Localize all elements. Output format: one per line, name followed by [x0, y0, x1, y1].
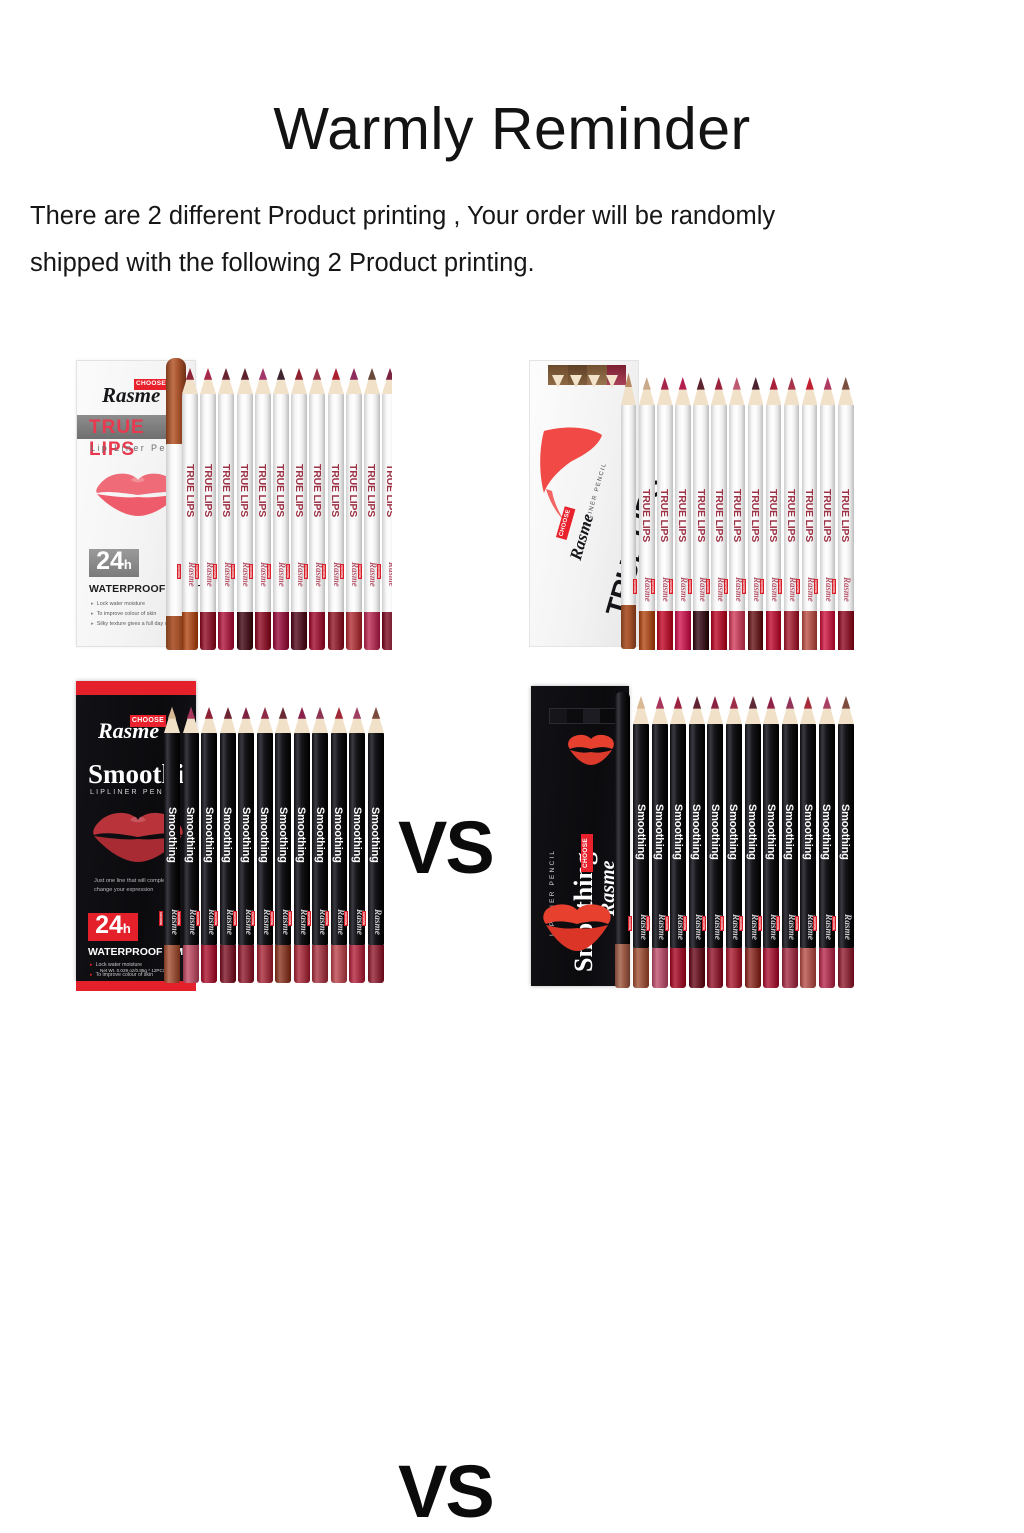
- pencil-shade-end: [707, 948, 723, 988]
- pencil-shade-end: [182, 612, 198, 650]
- pencil-tip-icon: [291, 368, 307, 394]
- pencil-front: [621, 373, 636, 649]
- pencil-label: TRUE LIPS: [658, 489, 670, 542]
- pencil-shade-end: [748, 611, 764, 650]
- pencil-choose-badge: CHOOSE: [706, 579, 710, 594]
- tray-slot: [583, 709, 600, 723]
- comparison-row-true-lips: CHOOSE Rasme TRUE LIPS Lip Liner Pencil …: [0, 345, 1024, 665]
- pencil-tip-icon: [633, 696, 649, 724]
- pencil-shade-end: [312, 945, 328, 983]
- pencil: TRUE LIPSRasmeCHOOSE: [218, 368, 234, 650]
- duration-badge: 24h: [89, 549, 139, 577]
- product-image-smoothing-red-black: CHOOSE Rasme Smoothing LIPLINER PENCIL J…: [72, 675, 392, 995]
- pencil-label: TRUE LIPS: [202, 464, 214, 517]
- pencil-tip-icon: [819, 696, 835, 724]
- pencil-tip-icon: [294, 707, 310, 733]
- pencil-label: Smoothing: [332, 807, 344, 863]
- vs-label: VS: [398, 1455, 493, 1529]
- pencil-tip-icon: [328, 368, 344, 394]
- pencil-choose-badge: CHOOSE: [832, 579, 836, 594]
- pencil-choose-badge: CHOOSE: [358, 564, 362, 579]
- pencil-shade-end: [689, 948, 705, 988]
- pencil-shade-end: [800, 948, 816, 988]
- pencil: SmoothingRasmeCHOOSE: [707, 696, 723, 988]
- pencil-choose-badge: CHOOSE: [795, 916, 799, 931]
- pencil: SmoothingRasmeCHOOSE: [633, 696, 649, 988]
- pencil-tip-icon: [800, 696, 816, 724]
- kiss-mark-icon: [541, 900, 613, 952]
- pencil-tip-icon: [726, 696, 742, 724]
- pencil-shade-end: [729, 611, 745, 650]
- duration-number: 24: [96, 549, 124, 574]
- pencil-shade-end: [802, 611, 818, 650]
- pencil-label: Smoothing: [351, 807, 363, 863]
- pencil-label: TRUE LIPS: [293, 464, 305, 517]
- pencil-shade-end: [349, 945, 365, 983]
- pencil-choose-badge: CHOOSE: [177, 564, 181, 579]
- pencil-tip-icon: [621, 373, 636, 407]
- pencil-choose-badge: CHOOSE: [665, 916, 669, 931]
- pencil-brand-script: Rasme: [372, 909, 382, 935]
- pencil-label: Smoothing: [672, 804, 684, 860]
- pencil-choose-badge: CHOOSE: [325, 911, 329, 926]
- pencil-brand-script: Rasme: [842, 577, 852, 602]
- pencil-label: Smoothing: [221, 807, 233, 863]
- pencil-choose-badge: CHOOSE: [159, 911, 163, 926]
- pencil-choose-badge: CHOOSE: [213, 564, 217, 579]
- pencil: SmoothingRasmeCHOOSE: [800, 696, 816, 988]
- pencil-shade-end: [257, 945, 273, 983]
- pencil-choose-badge: CHOOSE: [702, 916, 706, 931]
- pencil-tip-icon: [275, 707, 291, 733]
- pencil-barrel: [615, 692, 630, 944]
- pencil-tip-icon: [164, 707, 180, 733]
- pencil-shade-end: [346, 612, 362, 650]
- pencil-choose-badge: CHOOSE: [758, 916, 762, 931]
- pencil-shade-end: [693, 611, 709, 650]
- pencil-shade-end: [220, 945, 236, 983]
- pencil-tip-icon: [201, 707, 217, 733]
- pencil-tip-icon: [657, 377, 673, 405]
- pencil-shade-end: [275, 945, 291, 983]
- pencil-choose-badge: CHOOSE: [669, 579, 673, 594]
- duration-number: 24: [95, 913, 123, 938]
- pencil-shade-end: [183, 945, 199, 983]
- pencil-label: TRUE LIPS: [347, 464, 359, 517]
- pencil-label: TRUE LIPS: [731, 489, 743, 542]
- pencil-choose-badge: CHOOSE: [195, 564, 199, 579]
- duration-badge: 24h: [88, 913, 138, 941]
- pencil-shade-end: [675, 611, 691, 650]
- pencil-choose-badge: CHOOSE: [651, 579, 655, 594]
- comparison-row-smoothing: CHOOSE Rasme Smoothing LIPLINER PENCIL J…: [0, 675, 1024, 995]
- pencil-choose-badge: CHOOSE: [628, 916, 632, 931]
- pencil-tip-icon: [364, 368, 380, 394]
- pencil: TRUE LIPSRasmeCHOOSE: [273, 368, 289, 650]
- pencil-shade-end: [819, 948, 835, 988]
- pencil-choose-badge: CHOOSE: [742, 579, 746, 594]
- pencil: SmoothingRasmeCHOOSE: [294, 707, 310, 983]
- pencil-tip-icon: [763, 696, 779, 724]
- pencil-label: Smoothing: [277, 807, 289, 863]
- pencil-tip-icon: [368, 707, 384, 733]
- pencil: SmoothingRasmeCHOOSE: [331, 707, 347, 983]
- pencil-tip-icon: [182, 368, 198, 394]
- pencil-choose-badge: CHOOSE: [304, 564, 308, 579]
- pencil-tip-icon: [255, 368, 271, 394]
- pencil-shade-end: [726, 948, 742, 988]
- pencil-choose-badge: CHOOSE: [251, 911, 255, 926]
- pencil-choose-badge: CHOOSE: [688, 579, 692, 594]
- pencil: SmoothingRasmeCHOOSE: [819, 696, 835, 988]
- pencil: TRUE LIPSRasmeCHOOSE: [364, 368, 380, 650]
- pencil-tip-icon: [745, 696, 761, 724]
- pencil: SmoothingRasmeCHOOSE: [782, 696, 798, 988]
- pencil-shade-end: [782, 948, 798, 988]
- red-top-band: [76, 681, 196, 695]
- pencil-tip-icon: [670, 696, 686, 724]
- tray-slot: [550, 709, 567, 723]
- pencil-tip-icon: [711, 377, 727, 405]
- pencil-choose-badge: CHOOSE: [214, 911, 218, 926]
- choose-badge: CHOOSE: [581, 834, 593, 872]
- pencil: SmoothingRasmeCHOOSE: [652, 696, 668, 988]
- pencil-label: Smoothing: [240, 807, 252, 863]
- pencil-tip-icon: [689, 696, 705, 724]
- pencil-label: Smoothing: [314, 807, 326, 863]
- pencil: TRUE LIPSRasmeCHOOSE: [200, 368, 216, 650]
- pencil-choose-badge: CHOOSE: [646, 916, 650, 931]
- pencil: SmoothingRasmeCHOOSE: [257, 707, 273, 983]
- pencil: TRUE LIPSRasmeCHOOSE: [182, 368, 198, 650]
- kiss-mark-icon: [567, 732, 615, 766]
- pencil-label: Smoothing: [839, 804, 851, 860]
- intro-paragraph: There are 2 different Product printing ,…: [0, 159, 1024, 287]
- pencil-label: TRUE LIPS: [749, 489, 761, 542]
- pencil-label: TRUE LIPS: [767, 489, 779, 542]
- pencil-shade-end: [670, 948, 686, 988]
- pencil-choose-badge: CHOOSE: [340, 564, 344, 579]
- pencil-tip-icon: [200, 368, 216, 394]
- pencil-shade-end: [273, 612, 289, 650]
- pencil-label: TRUE LIPS: [839, 489, 851, 542]
- pencil-tip-icon: [312, 707, 328, 733]
- pencil-shade-end: [633, 948, 649, 988]
- pencil-tip-icon: [331, 707, 347, 733]
- pencil-choose-badge: CHOOSE: [720, 916, 724, 931]
- pencil-choose-badge: CHOOSE: [362, 911, 366, 926]
- pencil-brand-script: Rasme: [842, 914, 852, 940]
- pencil-label: Smoothing: [802, 804, 814, 860]
- pencil-tip-icon: [693, 377, 709, 405]
- pencil-shade-end: [368, 945, 384, 983]
- pencil-shade-end: [838, 948, 854, 988]
- pencil-choose-badge: CHOOSE: [233, 911, 237, 926]
- pencil: TRUE LIPSRasmeCHOOSE: [346, 368, 362, 650]
- brand-name: Rasme: [98, 718, 159, 744]
- pencil-shade-end: [331, 945, 347, 983]
- pencil-choose-badge: CHOOSE: [231, 564, 235, 579]
- pencil-barrel: [621, 405, 636, 605]
- pencil-choose-badge: CHOOSE: [760, 579, 764, 594]
- pencil-brand-script: Rasme: [387, 562, 392, 587]
- pencil: SmoothingRasmeCHOOSE: [238, 707, 254, 983]
- pencil-label: Smoothing: [166, 807, 178, 863]
- pencil: TRUE LIPSRasmeCHOOSE: [802, 377, 818, 650]
- pencil-tip-icon: [237, 368, 253, 394]
- pencil-choose-badge: CHOOSE: [739, 916, 743, 931]
- pencil: SmoothingRasmeCHOOSE: [838, 696, 854, 988]
- pencil: SmoothingRasmeCHOOSE: [368, 707, 384, 983]
- pencil: TRUE LIPSRasmeCHOOSE: [820, 377, 836, 650]
- pencil-tip-icon: [218, 368, 234, 394]
- pencil-label: TRUE LIPS: [256, 464, 268, 517]
- pencil-label: Smoothing: [820, 804, 832, 860]
- duration-unit: h: [124, 557, 132, 572]
- pencil-shade-end: [621, 605, 636, 649]
- pencil-label: TRUE LIPS: [238, 464, 250, 517]
- pencil-choose-badge: CHOOSE: [776, 916, 780, 931]
- pencil: TRUE LIPSRasmeCHOOSE: [693, 377, 709, 650]
- pencil: SmoothingRasmeCHOOSE: [670, 696, 686, 988]
- pencil: TRUE LIPSRasmeCHOOSE: [309, 368, 325, 650]
- pencil-label: TRUE LIPS: [785, 489, 797, 542]
- pencil-tip-icon: [838, 377, 854, 405]
- net-weight: Net Wt. 0.029 oz/0.85g * 12PCS: [100, 968, 166, 973]
- pencil-label: Smoothing: [690, 804, 702, 860]
- pencil: SmoothingRasmeCHOOSE: [275, 707, 291, 983]
- pencil-shade-end: [838, 611, 854, 650]
- pencil-shade-end: [328, 612, 344, 650]
- pencil-choose-badge: CHOOSE: [286, 564, 290, 579]
- pencil-label: Smoothing: [709, 804, 721, 860]
- pencil-choose-badge: CHOOSE: [377, 564, 381, 579]
- pencil: TRUE LIPSRasmeCHOOSE: [748, 377, 764, 650]
- pencil-choose-badge: CHOOSE: [683, 916, 687, 931]
- pencil-choose-badge: CHOOSE: [267, 564, 271, 579]
- pencil-label: TRUE LIPS: [695, 489, 707, 542]
- pencil-label: Smoothing: [746, 804, 758, 860]
- pencil-shade-end: [255, 612, 271, 650]
- pencil-row-smoothing-black: SmoothingRasmeCHOOSESmoothingRasmeCHOOSE…: [633, 696, 856, 988]
- pencil-label: TRUE LIPS: [821, 489, 833, 542]
- pencil-tip-icon: [257, 707, 273, 733]
- pencil: SmoothingRasmeCHOOSE: [312, 707, 328, 983]
- pencil-shade-end: [238, 945, 254, 983]
- pencil-shade-end: [657, 611, 673, 650]
- pencil-shade-end: [763, 948, 779, 988]
- pencil-row-smoothing-red-black: SmoothingRasmeCHOOSESmoothingRasmeCHOOSE…: [164, 707, 386, 983]
- pencil-tip-icon: [309, 368, 325, 394]
- product-image-true-lips-vertical: TRUE LIPS LIP LINER PENCIL Rasme CHOOSE: [525, 355, 925, 650]
- pencil: SmoothingRasmeCHOOSE: [745, 696, 761, 988]
- pencil: TRUE LIPSRasmeCHOOSE: [639, 377, 655, 650]
- pencil: TRUE LIPSRasmeCHOOSE: [838, 377, 854, 650]
- pencil-shade-end: [766, 611, 782, 650]
- pencil: TRUE LIPSRasmeCHOOSE: [729, 377, 745, 650]
- pencil-shade-end: [711, 611, 727, 650]
- pencil-tip-icon: [766, 377, 782, 405]
- pencil-shade-end: [164, 945, 180, 983]
- pencil: TRUE LIPSRasmeCHOOSE: [291, 368, 307, 650]
- pencil-choose-badge: CHOOSE: [344, 911, 348, 926]
- comparison-grid: CHOOSE Rasme TRUE LIPS Lip Liner Pencil …: [0, 345, 1024, 1005]
- pencil: TRUE LIPSRasmeCHOOSE: [657, 377, 673, 650]
- pencil-tip-icon: [820, 377, 836, 405]
- pencil-label: Smoothing: [653, 804, 665, 860]
- pencil-label: Smoothing: [295, 807, 307, 863]
- pencil-shade-end: [382, 612, 392, 650]
- tray-slot: [567, 709, 584, 723]
- pencil-label: Smoothing: [258, 807, 270, 863]
- pencil: TRUE LIPSRasmeCHOOSE: [237, 368, 253, 650]
- pencil-tip-icon: [238, 707, 254, 733]
- pencil: SmoothingRasmeCHOOSE: [726, 696, 742, 988]
- pencil-row-true-lips-white: TRUE LIPSRasmeCHOOSETRUE LIPSRasmeCHOOSE…: [182, 368, 392, 650]
- pencil-row-true-lips-vertical: TRUE LIPSRasmeCHOOSETRUE LIPSRasmeCHOOSE…: [639, 377, 856, 650]
- pencil-tip-icon: [273, 368, 289, 394]
- pencil-label: Smoothing: [203, 807, 215, 863]
- pencil-choose-badge: CHOOSE: [307, 911, 311, 926]
- pencil-shade-end: [200, 612, 216, 650]
- pencil-choose-badge: CHOOSE: [832, 916, 836, 931]
- pencil-shade-end: [291, 612, 307, 650]
- pencil: SmoothingRasmeCHOOSE: [220, 707, 236, 983]
- pencil-tip-icon: [349, 707, 365, 733]
- pencil-shade-end: [639, 611, 655, 650]
- pencil-choose-badge: CHOOSE: [177, 911, 181, 926]
- pencil-front: [615, 692, 630, 988]
- pencil-choose-badge: CHOOSE: [724, 579, 728, 594]
- pencil-choose-badge: CHOOSE: [288, 911, 292, 926]
- pencil-tip-icon: [652, 696, 668, 724]
- brand-name: Rasme: [102, 383, 160, 408]
- pencil-label: Smoothing: [369, 807, 381, 863]
- pencil: TRUE LIPSRasmeCHOOSE: [784, 377, 800, 650]
- pencil-label: Smoothing: [727, 804, 739, 860]
- pencil-label: TRUE LIPS: [184, 464, 196, 517]
- pencil: SmoothingRasmeCHOOSE: [763, 696, 779, 988]
- pencil-tip-icon: [346, 368, 362, 394]
- pencil-label: TRUE LIPS: [311, 464, 323, 517]
- product-image-smoothing-black: Smoothing LIPLINER PENCIL Rasme CHOOSE: [525, 678, 925, 995]
- pencil-label: TRUE LIPS: [220, 464, 232, 517]
- pencil-label: TRUE LIPS: [803, 489, 815, 542]
- pencil-shade-end: [820, 611, 836, 650]
- pencil-label: TRUE LIPS: [365, 464, 377, 517]
- pencil-tip-icon: [220, 707, 236, 733]
- pencil-choose-badge: CHOOSE: [814, 579, 818, 594]
- pencil-shade-end: [364, 612, 380, 650]
- pencil: TRUE LIPSRasmeCHOOSE: [255, 368, 271, 650]
- pencil-shade-end: [309, 612, 325, 650]
- pencil: SmoothingRasmeCHOOSE: [689, 696, 705, 988]
- pencil-label: Smoothing: [184, 807, 196, 863]
- pencil-choose-badge: CHOOSE: [196, 911, 200, 926]
- pencil-tip-icon: [183, 707, 199, 733]
- pencil: TRUE LIPSRasmeCHOOSE: [328, 368, 344, 650]
- pencil: TRUE LIPSRasmeCHOOSE: [766, 377, 782, 650]
- pencil-choose-badge: CHOOSE: [813, 916, 817, 931]
- pencil-shade-end: [652, 948, 668, 988]
- intro-line-1: There are 2 different Product printing ,…: [30, 193, 998, 240]
- pencil-shade-end: [237, 612, 253, 650]
- pencil-label: TRUE LIPS: [329, 464, 341, 517]
- pencil-label: TRUE LIPS: [676, 489, 688, 542]
- pencil-tip-icon: [784, 377, 800, 405]
- pencil: SmoothingRasmeCHOOSE: [201, 707, 217, 983]
- pencil-label: TRUE LIPS: [640, 489, 652, 542]
- tray-teeth-icon: [548, 375, 626, 389]
- pencil-shade-end: [745, 948, 761, 988]
- pencil-choose-badge: CHOOSE: [633, 579, 637, 594]
- pencil-choose-badge: CHOOSE: [249, 564, 253, 579]
- pencil-label: TRUE LIPS: [274, 464, 286, 517]
- page-title: Warmly Reminder: [0, 0, 1024, 159]
- pencil-label: Smoothing: [783, 804, 795, 860]
- duration-unit: h: [123, 921, 131, 936]
- pencil: TRUE LIPSRasmeCHOOSE: [711, 377, 727, 650]
- pencil-shade-end: [218, 612, 234, 650]
- pencil-tip-icon: [707, 696, 723, 724]
- pencil-tip-icon: [729, 377, 745, 405]
- pencil-choose-badge: CHOOSE: [322, 564, 326, 579]
- pencil-tip-icon: [838, 696, 854, 724]
- pencil-tip-icon: [675, 377, 691, 405]
- pencil-tip-icon: [639, 377, 655, 405]
- pencil-tray: [549, 708, 617, 724]
- product-image-true-lips-white: CHOOSE Rasme TRUE LIPS Lip Liner Pencil …: [72, 350, 392, 650]
- pencil-label: Smoothing: [635, 804, 647, 860]
- intro-line-2: shipped with the following 2 Product pri…: [30, 240, 998, 287]
- pencil: SmoothingRasmeCHOOSE: [349, 707, 365, 983]
- pencil: TRUE LIPSRasmeCHOOSE: [675, 377, 691, 650]
- pencil-label: TRUE LIPS: [713, 489, 725, 542]
- pencil-choose-badge: CHOOSE: [778, 579, 782, 594]
- pencil-tip-icon: [382, 368, 392, 394]
- pencil: TRUE LIPSRasmeCHOOSE: [382, 368, 392, 650]
- pencil-label: TRUE LIPS: [384, 464, 392, 517]
- pencil-shade-end: [784, 611, 800, 650]
- pencil-choose-badge: CHOOSE: [796, 579, 800, 594]
- pencil: SmoothingRasmeCHOOSE: [183, 707, 199, 983]
- pencil-shade-end: [294, 945, 310, 983]
- pencil-choose-badge: CHOOSE: [270, 911, 274, 926]
- tray-slot: [600, 709, 617, 723]
- pencil-tip-icon: [782, 696, 798, 724]
- pencil-label: Smoothing: [765, 804, 777, 860]
- pencil-tip-icon: [802, 377, 818, 405]
- pencil: SmoothingRasmeCHOOSE: [164, 707, 180, 983]
- pencil-shade-end: [201, 945, 217, 983]
- pencil-tip-icon: [748, 377, 764, 405]
- pencil-shade-end: [615, 944, 630, 988]
